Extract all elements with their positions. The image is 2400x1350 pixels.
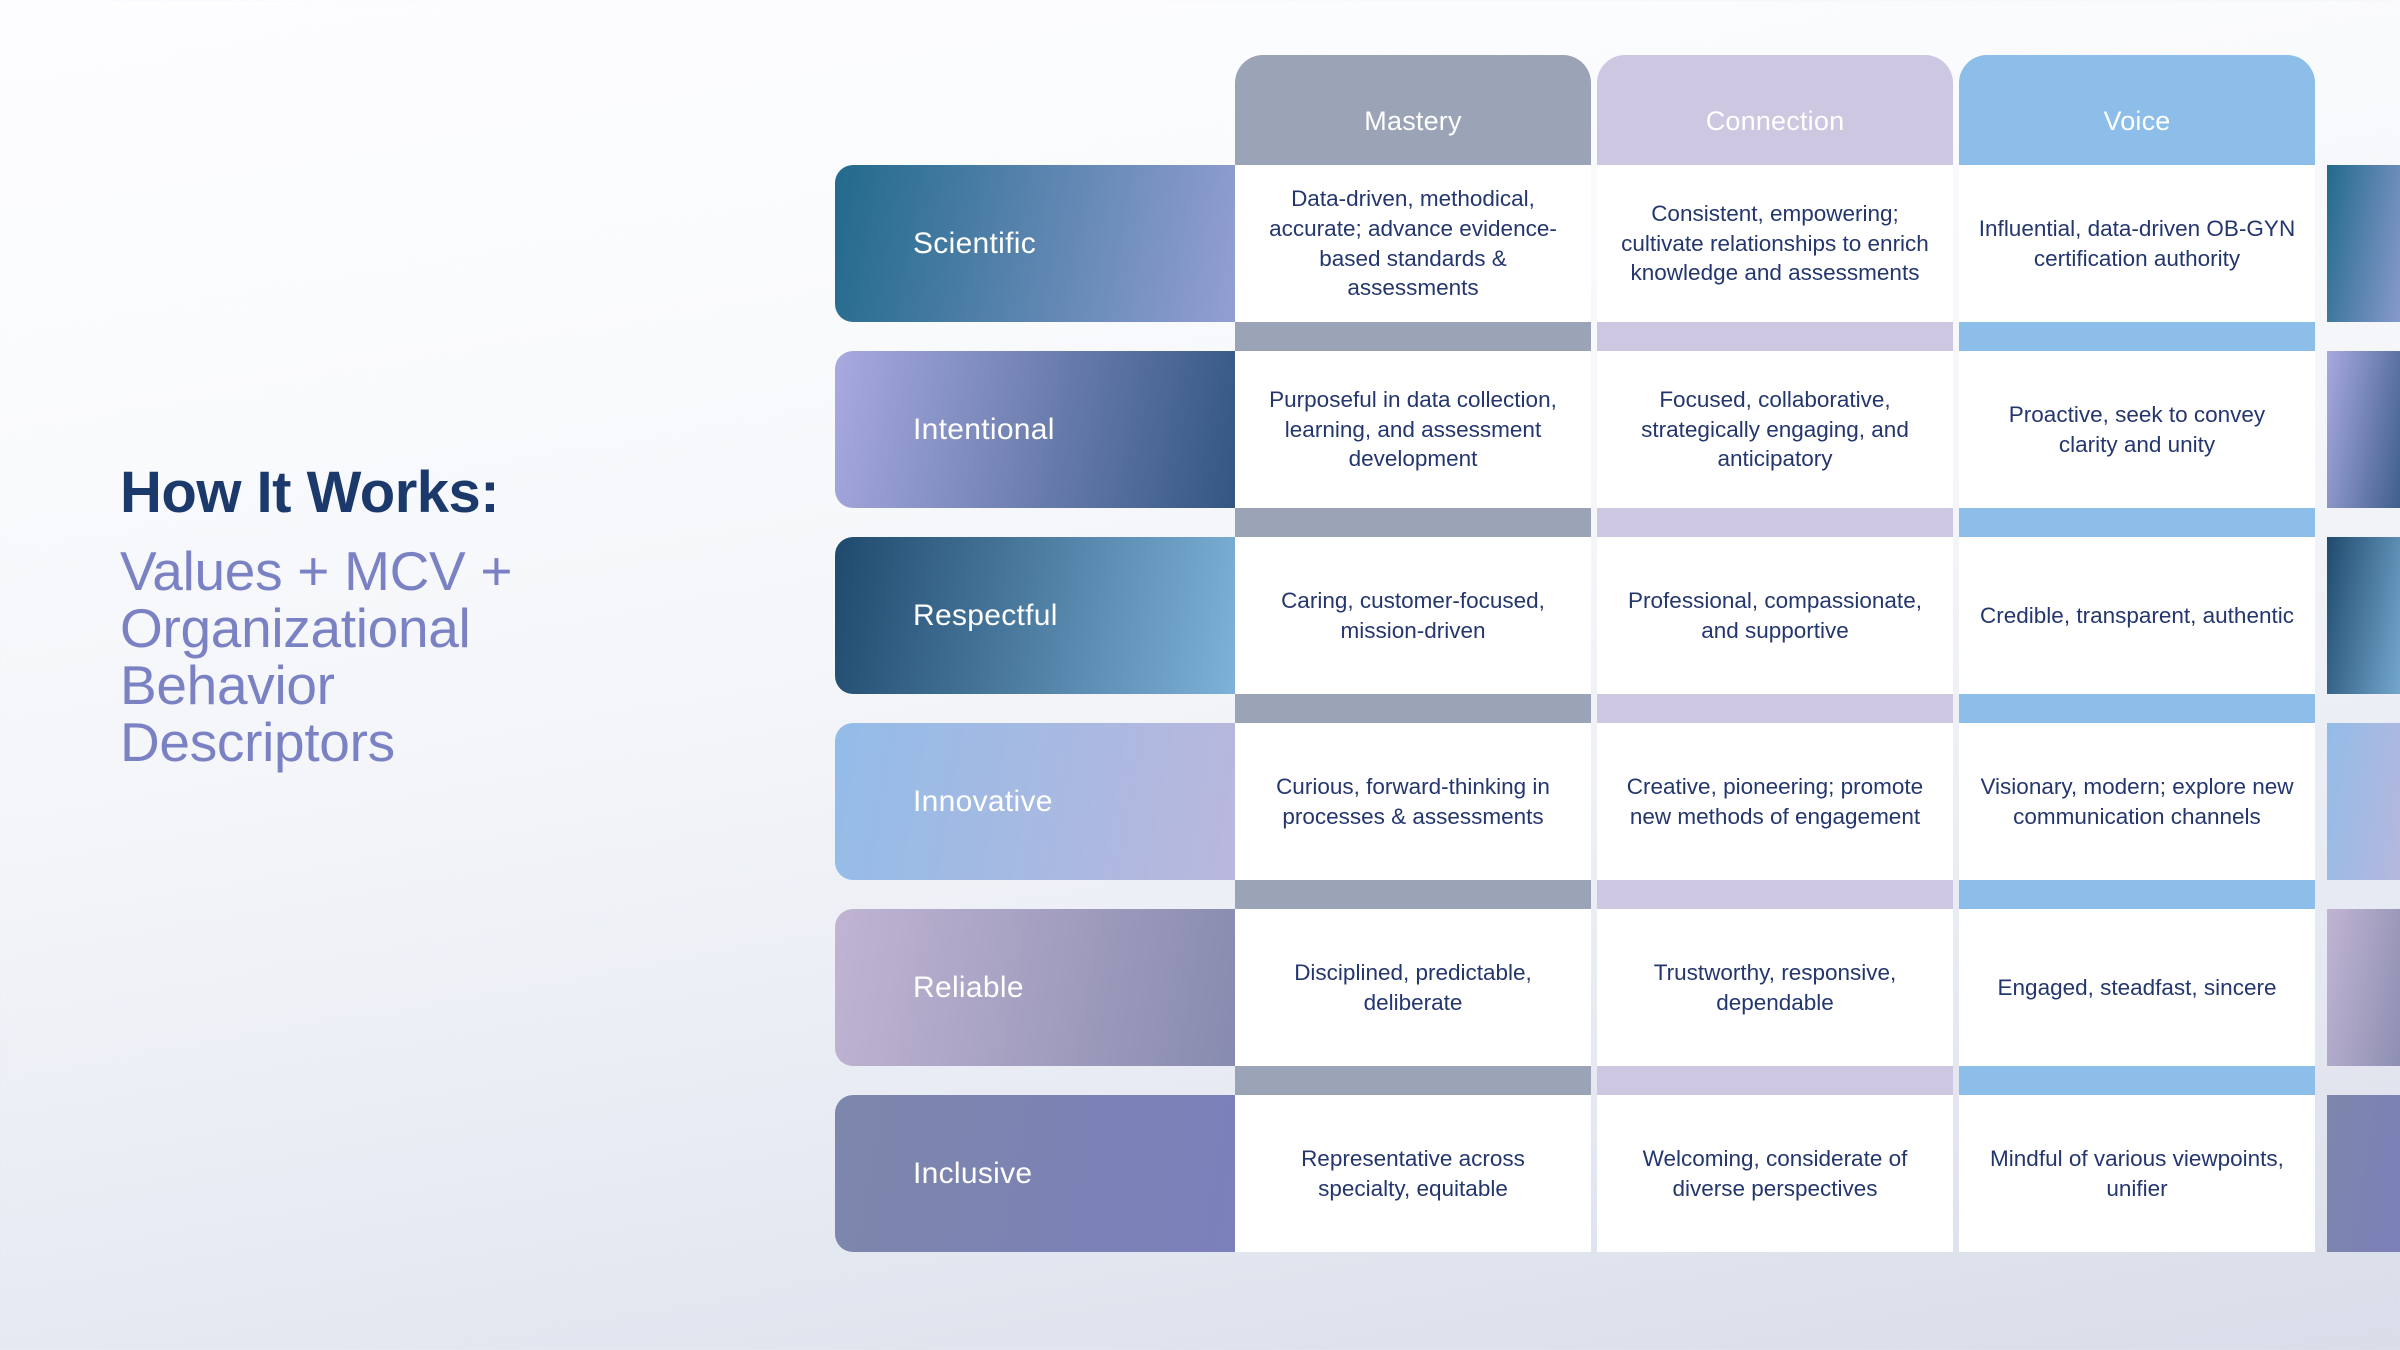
column-header-label: Voice: [2103, 106, 2170, 137]
separator-mastery: [1235, 880, 1591, 909]
cell-innovative-connection[interactable]: Creative, pioneering; promote new method…: [1597, 723, 1953, 880]
matrix-row: ReliableDisciplined, predictable, delibe…: [835, 909, 2315, 1095]
matrix-row: InnovativeCurious, forward-thinking in p…: [835, 723, 2315, 909]
cell-reliable-voice[interactable]: Engaged, steadfast, sincere: [1959, 909, 2315, 1066]
matrix-column-headers: MasteryConnectionVoice: [1235, 55, 2315, 165]
row-cells: Disciplined, predictable, deliberateTrus…: [1235, 909, 2315, 1066]
separator-connection: [1597, 880, 1953, 909]
matrix-row: ScientificData-driven, methodical, accur…: [835, 165, 2315, 351]
cell-text: Visionary, modern; explore new communica…: [1977, 772, 2297, 832]
row-label: Respectful: [913, 599, 1058, 633]
separator-voice: [1959, 508, 2315, 537]
separator-mastery: [1235, 322, 1591, 351]
row-accent-tail: [2327, 537, 2400, 694]
cell-inclusive-voice[interactable]: Mindful of various viewpoints, unifier: [1959, 1095, 2315, 1252]
row-label: Intentional: [913, 413, 1055, 447]
cell-text: Professional, compassionate, and support…: [1615, 586, 1935, 646]
cell-text: Influential, data-driven OB-GYN certific…: [1977, 214, 2297, 274]
row-separators: [1235, 1066, 2315, 1095]
row-accent-tail: [2327, 1095, 2400, 1252]
matrix-row: InclusiveRepresentative across specialty…: [835, 1095, 2315, 1281]
header-separator-0: [1235, 151, 1591, 165]
cell-inclusive-mastery[interactable]: Representative across specialty, equitab…: [1235, 1095, 1591, 1252]
cell-text: Purposeful in data collection, learning,…: [1253, 385, 1573, 475]
cell-text: Trustworthy, responsive, dependable: [1615, 958, 1935, 1018]
cell-scientific-mastery[interactable]: Data-driven, methodical, accurate; advan…: [1235, 165, 1591, 322]
cell-intentional-connection[interactable]: Focused, collaborative, strategically en…: [1597, 351, 1953, 508]
cell-text: Focused, collaborative, strategically en…: [1615, 385, 1935, 475]
page-subtitle: Values + MCV + Organizational Behavior D…: [120, 543, 760, 772]
cell-respectful-connection[interactable]: Professional, compassionate, and support…: [1597, 537, 1953, 694]
separator-voice: [1959, 880, 2315, 909]
cell-inclusive-connection[interactable]: Welcoming, considerate of diverse perspe…: [1597, 1095, 1953, 1252]
row-cells: Caring, customer-focused, mission-driven…: [1235, 537, 2315, 694]
subtitle-line-4: Descriptors: [120, 714, 760, 771]
separator-mastery: [1235, 694, 1591, 723]
row-accent-tail: [2327, 723, 2400, 880]
row-label: Scientific: [913, 227, 1036, 261]
row-accent-tail: [2327, 909, 2400, 1066]
column-header-voice[interactable]: Voice: [1959, 55, 2315, 165]
cell-respectful-mastery[interactable]: Caring, customer-focused, mission-driven: [1235, 537, 1591, 694]
cell-text: Engaged, steadfast, sincere: [1998, 973, 2277, 1003]
separator-connection: [1597, 322, 1953, 351]
row-label: Reliable: [913, 971, 1024, 1005]
page-title: How It Works:: [120, 462, 760, 525]
cell-text: Curious, forward-thinking in processes &…: [1253, 772, 1573, 832]
cell-text: Mindful of various viewpoints, unifier: [1977, 1144, 2297, 1204]
matrix-row: IntentionalPurposeful in data collection…: [835, 351, 2315, 537]
column-header-mastery[interactable]: Mastery: [1235, 55, 1591, 165]
separator-connection: [1597, 694, 1953, 723]
subtitle-line-1: Values + MCV +: [120, 543, 760, 600]
cell-text: Caring, customer-focused, mission-driven: [1253, 586, 1573, 646]
cell-text: Proactive, seek to convey clarity and un…: [1977, 400, 2297, 460]
row-separators: [1235, 322, 2315, 351]
separator-voice: [1959, 322, 2315, 351]
cell-reliable-mastery[interactable]: Disciplined, predictable, deliberate: [1235, 909, 1591, 1066]
column-header-connection[interactable]: Connection: [1597, 55, 1953, 165]
row-label: Innovative: [913, 785, 1053, 819]
cell-text: Data-driven, methodical, accurate; advan…: [1253, 184, 1573, 304]
row-accent-tail: [2327, 165, 2400, 322]
column-header-label: Connection: [1706, 106, 1845, 137]
row-accent-tail: [2327, 351, 2400, 508]
separator-voice: [1959, 1066, 2315, 1095]
cell-text: Consistent, empowering; cultivate relati…: [1615, 199, 1935, 289]
subtitle-line-2: Organizational: [120, 600, 760, 657]
header-separator-1: [1597, 151, 1953, 165]
cell-innovative-voice[interactable]: Visionary, modern; explore new communica…: [1959, 723, 2315, 880]
subtitle-line-3: Behavior: [120, 657, 760, 714]
cell-intentional-voice[interactable]: Proactive, seek to convey clarity and un…: [1959, 351, 2315, 508]
matrix-header-separators: [1235, 151, 2315, 165]
cell-text: Creative, pioneering; promote new method…: [1615, 772, 1935, 832]
row-cells: Representative across specialty, equitab…: [1235, 1095, 2315, 1252]
header-separator-2: [1959, 151, 2315, 165]
cell-intentional-mastery[interactable]: Purposeful in data collection, learning,…: [1235, 351, 1591, 508]
separator-mastery: [1235, 508, 1591, 537]
cell-scientific-connection[interactable]: Consistent, empowering; cultivate relati…: [1597, 165, 1953, 322]
column-header-label: Mastery: [1364, 106, 1461, 137]
matrix-row: RespectfulCaring, customer-focused, miss…: [835, 537, 2315, 723]
title-block: How It Works: Values + MCV + Organizatio…: [120, 462, 760, 771]
cell-text: Representative across specialty, equitab…: [1253, 1144, 1573, 1204]
cell-text: Disciplined, predictable, deliberate: [1253, 958, 1573, 1018]
row-separators: [1235, 508, 2315, 537]
cell-scientific-voice[interactable]: Influential, data-driven OB-GYN certific…: [1959, 165, 2315, 322]
cell-innovative-mastery[interactable]: Curious, forward-thinking in processes &…: [1235, 723, 1591, 880]
separator-voice: [1959, 694, 2315, 723]
matrix-rows: ScientificData-driven, methodical, accur…: [835, 165, 2315, 1285]
cell-respectful-voice[interactable]: Credible, transparent, authentic: [1959, 537, 2315, 694]
row-separators: [1235, 880, 2315, 909]
cell-text: Welcoming, considerate of diverse perspe…: [1615, 1144, 1935, 1204]
row-label: Inclusive: [913, 1157, 1032, 1191]
separator-connection: [1597, 508, 1953, 537]
values-matrix: MasteryConnectionVoice ScientificData-dr…: [835, 55, 2315, 1285]
row-separators: [1235, 694, 2315, 723]
cell-reliable-connection[interactable]: Trustworthy, responsive, dependable: [1597, 909, 1953, 1066]
separator-connection: [1597, 1066, 1953, 1095]
cell-text: Credible, transparent, authentic: [1980, 601, 2294, 631]
row-cells: Curious, forward-thinking in processes &…: [1235, 723, 2315, 880]
row-cells: Data-driven, methodical, accurate; advan…: [1235, 165, 2315, 322]
separator-mastery: [1235, 1066, 1591, 1095]
row-cells: Purposeful in data collection, learning,…: [1235, 351, 2315, 508]
